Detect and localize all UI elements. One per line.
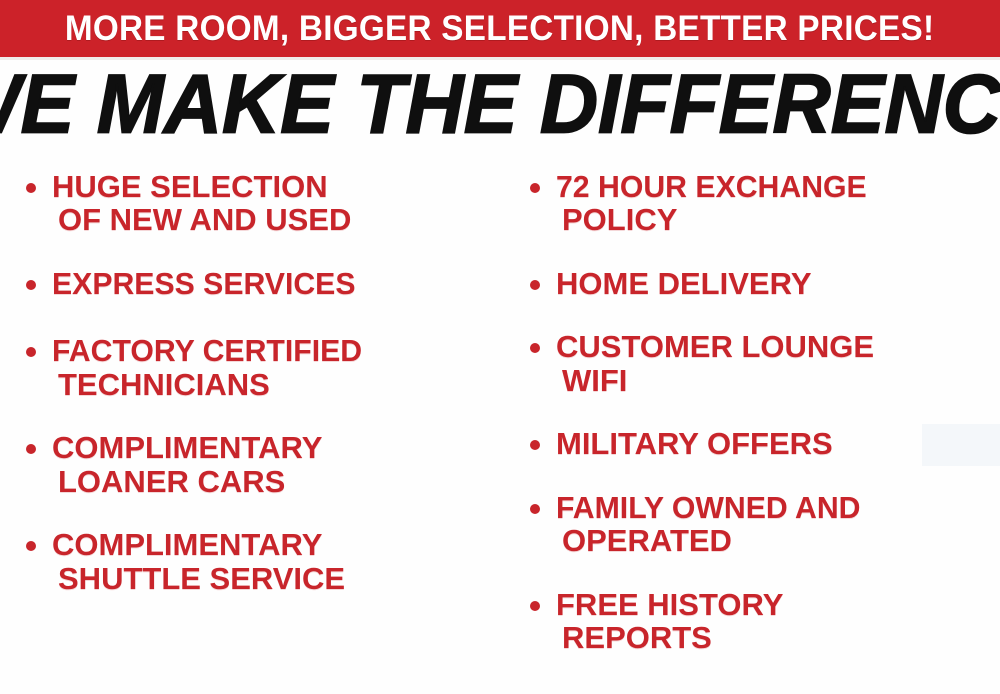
benefit-item-line: REPORTS: [556, 621, 1000, 654]
benefits-column-left: HUGE SELECTIONOF NEW AND USEDEXPRESS SER…: [0, 158, 500, 694]
benefit-item-line: 72 HOUR EXCHANGE: [556, 170, 989, 203]
benefits-columns: HUGE SELECTIONOF NEW AND USEDEXPRESS SER…: [0, 158, 1000, 694]
promo-banner: MORE ROOM, BIGGER SELECTION, BETTER PRIC…: [0, 0, 1000, 57]
benefit-item: HUGE SELECTIONOF NEW AND USED: [18, 170, 500, 237]
benefit-item-line: OF NEW AND USED: [52, 203, 500, 236]
benefit-item-line: FACTORY CERTIFIED: [52, 334, 489, 367]
benefit-item-line: HOME DELIVERY: [556, 267, 1000, 300]
benefit-item-line: COMPLIMENTARY: [52, 431, 500, 464]
page-title: WE MAKE THE DIFFERENCE: [0, 63, 1000, 147]
headline-container: WE MAKE THE DIFFERENCE: [0, 62, 1000, 147]
benefits-column-right: 72 HOUR EXCHANGEPOLICYHOME DELIVERYCUSTO…: [500, 158, 1000, 694]
benefit-item: MILITARY OFFERS: [522, 427, 1000, 460]
promo-banner-text: MORE ROOM, BIGGER SELECTION, BETTER PRIC…: [65, 11, 934, 46]
benefit-item: COMPLIMENTARYLOANER CARS: [18, 431, 500, 498]
benefit-item-line: SHUTTLE SERVICE: [52, 562, 500, 595]
benefit-item: FAMILY OWNED ANDOPERATED: [522, 491, 1000, 558]
benefit-item: HOME DELIVERY: [522, 267, 1000, 300]
benefit-item-line: COMPLIMENTARY: [52, 528, 500, 561]
benefit-item-line: HUGE SELECTION: [52, 170, 500, 203]
benefit-item: FREE HISTORYREPORTS: [522, 588, 1000, 655]
benefit-item-line: TECHNICIANS: [52, 368, 500, 401]
benefit-item-line: CUSTOMER LOUNGE: [556, 330, 1000, 363]
benefit-item: 72 HOUR EXCHANGEPOLICY: [522, 170, 1000, 237]
benefits-list-right: 72 HOUR EXCHANGEPOLICYHOME DELIVERYCUSTO…: [522, 170, 1000, 655]
benefit-item-line: LOANER CARS: [52, 465, 500, 498]
benefit-item-line: OPERATED: [556, 524, 1000, 557]
banner-edge-divider: [0, 57, 1000, 60]
benefits-list-left: HUGE SELECTIONOF NEW AND USEDEXPRESS SER…: [18, 170, 500, 595]
benefit-item-line: POLICY: [556, 203, 1000, 236]
advertisement-flyer: MORE ROOM, BIGGER SELECTION, BETTER PRIC…: [0, 0, 1000, 694]
benefit-item-line: FREE HISTORY: [556, 588, 1000, 621]
benefit-item: COMPLIMENTARYSHUTTLE SERVICE: [18, 528, 500, 595]
benefit-item: EXPRESS SERVICES: [18, 267, 500, 300]
benefit-item-line: FAMILY OWNED AND: [556, 491, 989, 524]
benefit-item-line: MILITARY OFFERS: [556, 427, 1000, 460]
benefit-item-line: WIFI: [556, 364, 1000, 397]
benefit-item: FACTORY CERTIFIEDTECHNICIANS: [18, 334, 500, 401]
benefit-item: CUSTOMER LOUNGEWIFI: [522, 330, 1000, 397]
benefit-item-line: EXPRESS SERVICES: [52, 267, 489, 300]
